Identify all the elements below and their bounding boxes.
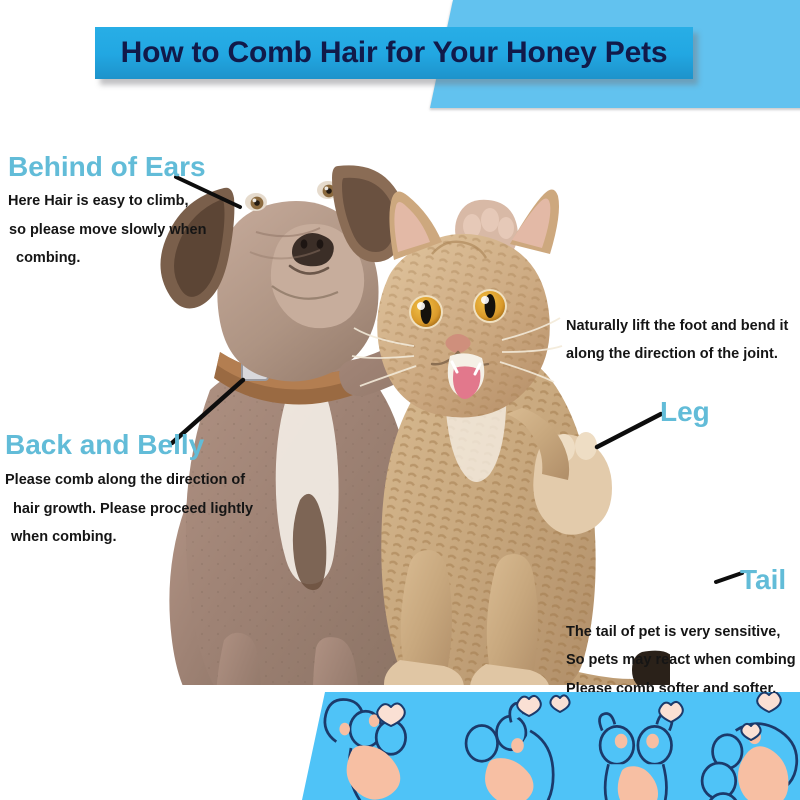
annotation-body-leg: Naturally lift the foot and bend it alon… [566,312,788,369]
annotation-line: Please comb along the direction of [5,466,253,494]
annotation-line: The tail of pet is very sensitive, [566,618,800,646]
bottom-decorative-banner [0,680,800,800]
annotation-line: so please move slowly when [8,216,206,244]
paw-pattern-banner [0,680,800,800]
annotation-line: Here Hair is easy to climb, [8,187,206,215]
annotation-heading-tail: Tail [740,565,786,594]
title-banner: How to Comb Hair for Your Honey Pets [95,27,693,79]
annotation-line: So pets may react when combing hair, [566,646,800,674]
leader-line-tail [716,573,742,582]
annotation-behind-of-ears: Behind of Ears Here Hair is easy to clim… [8,152,206,272]
annotation-line: along the direction of the joint. [566,340,788,368]
annotation-line: when combing. [5,523,253,551]
annotation-body-back: Please comb along the direction of hair … [5,466,253,551]
cat-figure [352,189,670,685]
infographic-canvas: How to Comb Hair for Your Honey Pets [0,0,800,800]
annotation-line: combing. [8,244,206,272]
page-title: How to Comb Hair for Your Honey Pets [95,27,693,79]
pets-photo [150,140,670,685]
annotation-line: Naturally lift the foot and bend it [566,312,788,340]
annotation-back-and-belly: Back and Belly Please comb along the dir… [5,430,253,551]
annotation-heading-ears: Behind of Ears [8,152,206,181]
annotation-heading-leg: Leg [660,397,710,426]
pets-illustration [150,140,670,685]
annotation-body-ears: Here Hair is easy to climb, so please mo… [8,187,206,272]
annotation-heading-back: Back and Belly [5,430,253,459]
annotation-line: hair growth. Please proceed lightly [5,495,253,523]
